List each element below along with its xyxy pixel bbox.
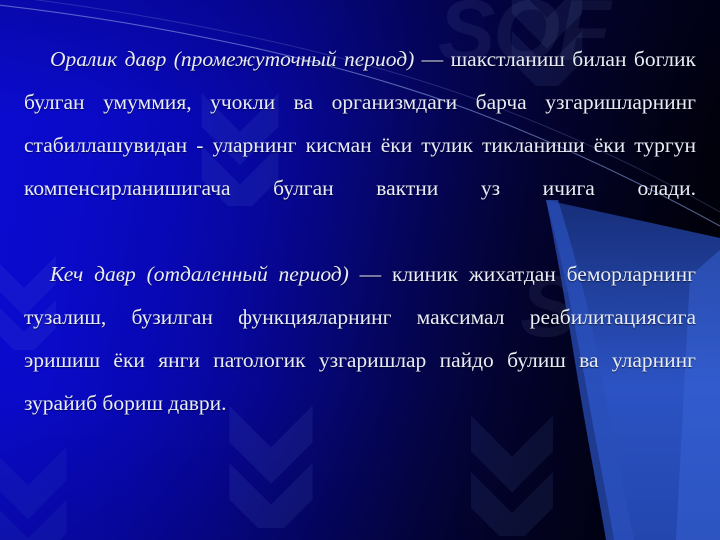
paragraph-1-lead-term: Оралик давр (промежуточный период)	[50, 47, 414, 71]
paragraph-late-period: Кеч давр (отдаленный период) — клиник жи…	[24, 253, 696, 425]
slide-canvas: SOF SOF SO	[0, 0, 720, 540]
paragraph-interim-period: Оралик давр (промежуточный период) — шак…	[24, 38, 696, 253]
slide-text-body: Оралик давр (промежуточный период) — шак…	[0, 0, 720, 540]
paragraph-2-lead-term: Кеч давр (отдаленный период)	[50, 262, 349, 286]
